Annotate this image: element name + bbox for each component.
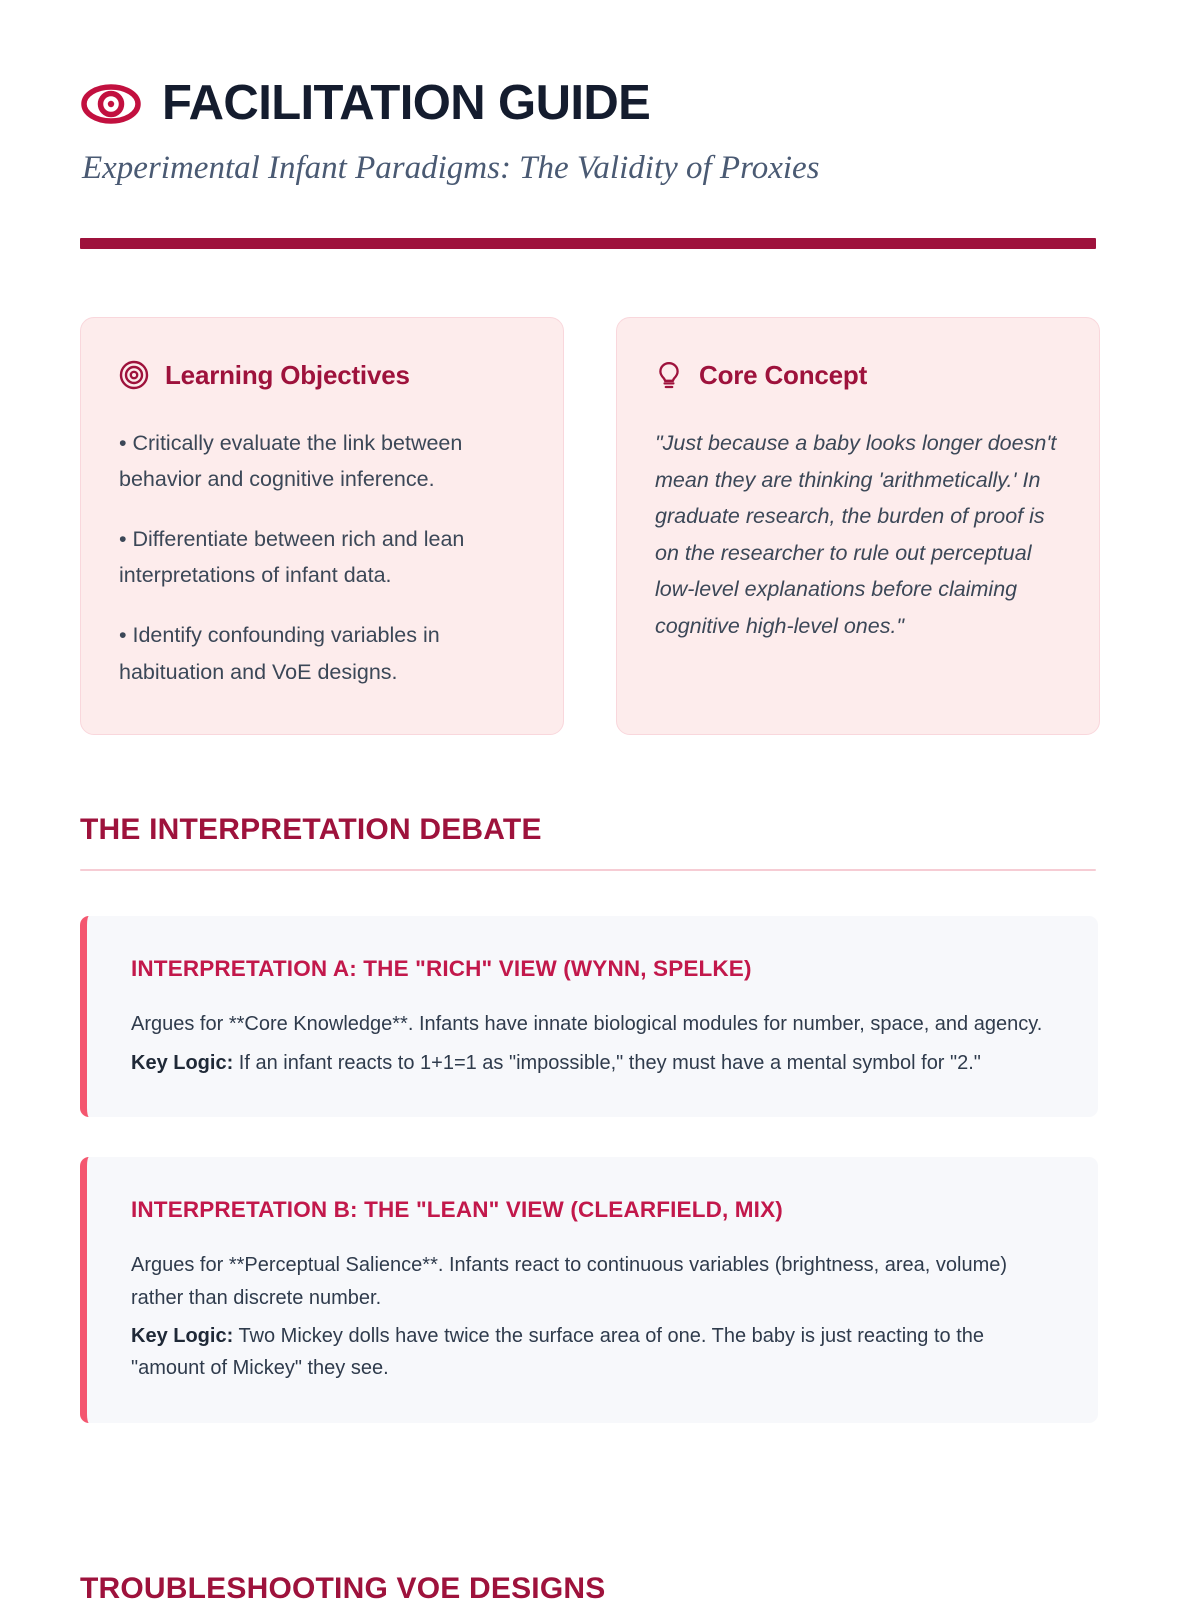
- troubleshooting-heading: TROUBLESHOOTING VOE DESIGNS: [80, 1574, 1096, 1600]
- key-logic-label: Key Logic:: [131, 1325, 233, 1347]
- title-row: FACILITATION GUIDE: [80, 78, 1100, 129]
- key-logic-label: Key Logic:: [131, 1052, 233, 1074]
- document-header: FACILITATION GUIDE Experimental Infant P…: [80, 78, 1100, 249]
- lightbulb-icon: [655, 360, 683, 390]
- section-heading: THE INTERPRETATION DEBATE: [80, 813, 1100, 847]
- interpretation-panel-b: INTERPRETATION B: THE "LEAN" VIEW (CLEAR…: [80, 1157, 1098, 1423]
- eye-icon: [80, 80, 142, 128]
- core-concept-card: Core Concept "Just because a baby looks …: [616, 317, 1100, 735]
- learning-objectives-card: Learning Objectives • Critically evaluat…: [80, 317, 564, 735]
- interpretation-a-title: INTERPRETATION A: THE "RICH" VIEW (WYNN,…: [131, 956, 1058, 982]
- interpretation-b-body: Argues for **Perceptual Salience**. Infa…: [131, 1249, 1058, 1314]
- core-concept-header: Core Concept: [655, 360, 1061, 391]
- core-concept-quote: "Just because a baby looks longer doesn'…: [655, 425, 1061, 644]
- learning-objectives-title: Learning Objectives: [165, 360, 410, 391]
- key-logic-text: Two Mickey dolls have twice the surface …: [131, 1325, 984, 1379]
- facilitation-guide-page: FACILITATION GUIDE Experimental Infant P…: [0, 0, 1200, 1600]
- objective-item: • Differentiate between rich and lean in…: [119, 521, 525, 593]
- objective-item: • Identify confounding variables in habi…: [119, 617, 525, 689]
- interpretation-a-logic: Key Logic: If an infant reacts to 1+1=1 …: [131, 1047, 1058, 1079]
- page-title: FACILITATION GUIDE: [162, 78, 650, 129]
- interpretation-b-title: INTERPRETATION B: THE "LEAN" VIEW (CLEAR…: [131, 1197, 1058, 1223]
- interpretation-panel-a: INTERPRETATION A: THE "RICH" VIEW (WYNN,…: [80, 916, 1098, 1117]
- info-cards-row: Learning Objectives • Critically evaluat…: [80, 317, 1100, 735]
- interpretation-b-logic: Key Logic: Two Mickey dolls have twice t…: [131, 1320, 1058, 1385]
- interpretation-debate-section: THE INTERPRETATION DEBATE INTERPRETATION…: [80, 813, 1100, 1423]
- troubleshooting-section: TROUBLESHOOTING VOE DESIGNS: [80, 1574, 1096, 1600]
- target-icon: [119, 360, 149, 390]
- page-subtitle: Experimental Infant Paradigms: The Valid…: [82, 147, 1012, 191]
- header-divider: [80, 238, 1096, 249]
- interpretation-a-body: Argues for **Core Knowledge**. Infants h…: [131, 1008, 1058, 1040]
- core-concept-title: Core Concept: [699, 360, 867, 391]
- objective-item: • Critically evaluate the link between b…: [119, 425, 525, 497]
- learning-objectives-header: Learning Objectives: [119, 360, 525, 391]
- section-divider: [80, 869, 1096, 872]
- key-logic-text: If an infant reacts to 1+1=1 as "impossi…: [233, 1052, 981, 1074]
